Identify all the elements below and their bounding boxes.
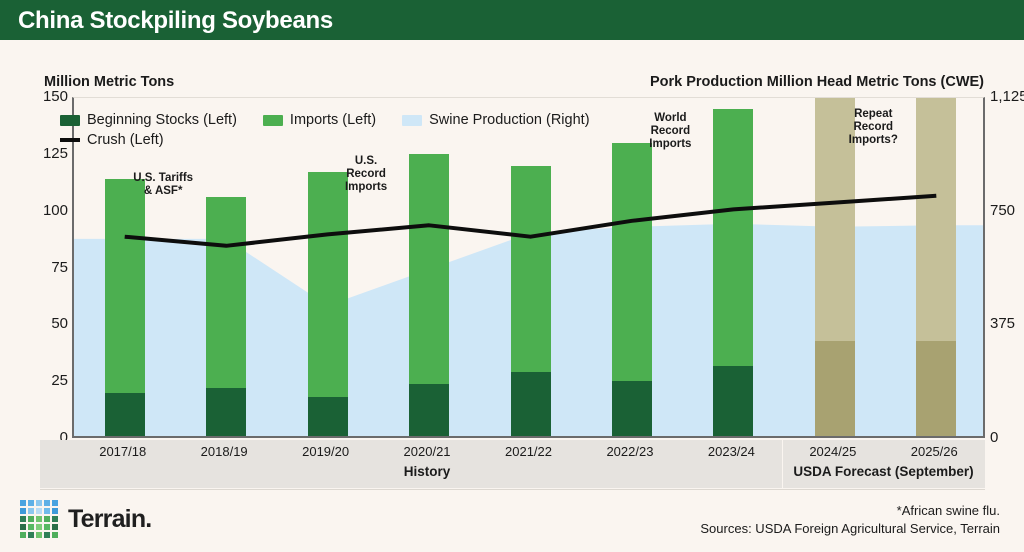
logo-wordmark: Terrain.	[68, 505, 151, 534]
logo-dot	[36, 508, 42, 514]
logo-dot	[44, 500, 50, 506]
annotation-line: U.S. Tariffs	[126, 172, 200, 185]
logo-dot	[20, 500, 26, 506]
logo-dot	[28, 532, 34, 538]
legend-item[interactable]: Crush (Left)	[60, 132, 164, 148]
logo-dot	[36, 524, 42, 530]
left-axis-tick-label: 25	[6, 372, 68, 389]
legend-row: Crush (Left)	[60, 130, 616, 150]
footnote-asf: *African swine flu.	[897, 503, 1000, 518]
logo-dot	[44, 532, 50, 538]
x-axis-tick-label: 2021/22	[484, 444, 574, 459]
logo-dot	[20, 524, 26, 530]
footer-divider	[40, 489, 985, 490]
x-group-label-forecast: USDA Forecast (September)	[782, 464, 985, 479]
logo-dot	[20, 516, 26, 522]
annotation-line: Imports	[633, 138, 707, 151]
sources-line: Sources: USDA Foreign Agricultural Servi…	[700, 521, 1000, 536]
legend-item-label: Beginning Stocks (Left)	[87, 112, 237, 128]
legend-item[interactable]: Imports (Left)	[263, 112, 376, 128]
logo-dot	[52, 500, 58, 506]
right-axis-tick-label: 0	[990, 429, 1024, 446]
chart-annotation-world-record: WorldRecordImports	[633, 112, 707, 151]
x-axis-tick-label: 2022/23	[585, 444, 675, 459]
annotation-line: & ASF*	[126, 185, 200, 198]
logo-dot	[20, 508, 26, 514]
x-axis-tick-label: 2017/18	[78, 444, 168, 459]
logo-dot	[28, 524, 34, 530]
x-axis-tick-label: 2020/21	[382, 444, 472, 459]
legend-item[interactable]: Swine Production (Right)	[402, 112, 589, 128]
legend-item[interactable]: Beginning Stocks (Left)	[60, 112, 237, 128]
logo-dot	[36, 516, 42, 522]
x-axis-tick-label: 2024/25	[788, 444, 878, 459]
logo-dot	[44, 508, 50, 514]
left-axis-tick-label: 100	[6, 202, 68, 219]
right-axis-tick-label: 750	[990, 202, 1024, 219]
legend-color-swatch-icon	[60, 115, 80, 126]
legend-color-swatch-icon	[402, 115, 422, 126]
annotation-line: Imports	[329, 181, 403, 194]
logo-dot	[28, 500, 34, 506]
chart-page: China Stockpiling Soybeans Million Metri…	[0, 0, 1024, 552]
logo-dot	[52, 516, 58, 522]
annotation-line: Record	[836, 121, 910, 134]
logo-dot	[28, 508, 34, 514]
chart-annotation-tariffs: U.S. Tariffs& ASF*	[126, 172, 200, 198]
x-axis-band: 2017/182018/192019/202020/212021/222022/…	[40, 440, 985, 488]
legend-line-swatch-icon	[60, 138, 80, 142]
right-axis-title: Pork Production Million Head Metric Tons…	[650, 74, 984, 90]
logo-dot	[52, 508, 58, 514]
chart-legend: Beginning Stocks (Left)Imports (Left)Swi…	[60, 110, 616, 150]
annotation-line: World	[633, 112, 707, 125]
left-axis-tick-label: 150	[6, 88, 68, 105]
legend-item-label: Crush (Left)	[87, 132, 164, 148]
right-axis-tick-label: 375	[990, 315, 1024, 332]
right-axis-tick-label: 1,125	[990, 88, 1024, 105]
x-axis-tick-label: 2018/19	[179, 444, 269, 459]
logo-dot	[20, 532, 26, 538]
x-axis-tick-label: 2019/20	[281, 444, 371, 459]
x-axis-tick-label: 2023/24	[686, 444, 776, 459]
logo-dot-grid-icon	[20, 500, 58, 538]
legend-item-label: Swine Production (Right)	[429, 112, 589, 128]
left-axis-tick-label: 50	[6, 315, 68, 332]
legend-item-label: Imports (Left)	[290, 112, 376, 128]
logo-dot	[36, 500, 42, 506]
logo-dot	[52, 532, 58, 538]
x-axis-tick-label: 2025/26	[889, 444, 979, 459]
legend-row: Beginning Stocks (Left)Imports (Left)Swi…	[60, 110, 616, 130]
left-axis-tick-label: 75	[6, 259, 68, 276]
legend-color-swatch-icon	[263, 115, 283, 126]
annotation-line: Record	[633, 125, 707, 138]
logo-dot	[36, 532, 42, 538]
annotation-line: Imports?	[836, 134, 910, 147]
annotation-line: U.S.	[329, 155, 403, 168]
chart-annotation-us-record: U.S.RecordImports	[329, 155, 403, 194]
logo-dot	[44, 516, 50, 522]
annotation-line: Record	[329, 168, 403, 181]
header-bar: China Stockpiling Soybeans	[0, 0, 1024, 40]
annotation-line: Repeat	[836, 108, 910, 121]
brand-logo: Terrain.	[20, 500, 151, 538]
left-axis-tick-label: 125	[6, 145, 68, 162]
x-group-label-history: History	[72, 464, 782, 479]
logo-dot	[44, 524, 50, 530]
logo-dot	[28, 516, 34, 522]
right-axis-ticks: 03757501,125	[990, 0, 1024, 552]
chart-annotation-repeat-record: RepeatRecordImports?	[836, 108, 910, 147]
logo-dot	[52, 524, 58, 530]
